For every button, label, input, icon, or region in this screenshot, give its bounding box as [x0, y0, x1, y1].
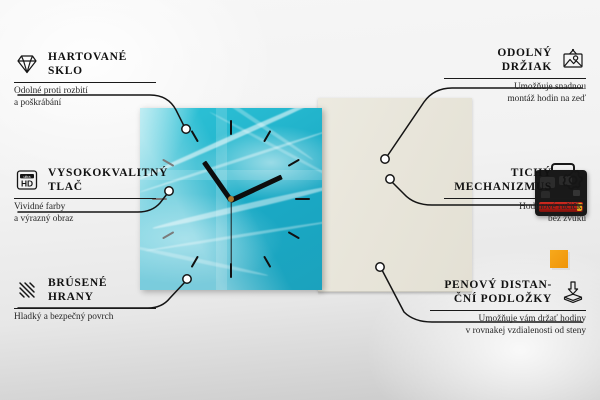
- feature-divider: [444, 78, 586, 79]
- polished-edges-icon: [14, 277, 40, 303]
- gear-icon: [560, 167, 586, 193]
- connector-dot: [183, 275, 191, 283]
- feature-title: PENOVÝ DISTAN-ČNÍ PODLOŽKY: [444, 278, 552, 306]
- feature-heading-row: TICHÝMECHANIZMUS: [444, 166, 586, 194]
- connector-dot: [381, 155, 389, 163]
- feature-heading-row: HARTOVANÉSKLO: [14, 50, 156, 78]
- diamond-icon: [14, 51, 40, 77]
- svg-text:HD: HD: [21, 178, 33, 188]
- feature-description: Umožňuje vám držať hodinyv rovnakej vzdi…: [430, 314, 586, 337]
- feature-divider: [14, 308, 156, 309]
- feature-description: Vividné farbya výrazný obraz: [14, 202, 156, 225]
- feature-divider: [444, 198, 586, 199]
- infographic-canvas: HARTOVANÉSKLO Odolné proti rozbitía pošk…: [0, 0, 600, 400]
- feature-divider: [14, 198, 156, 199]
- foam-spacer-icon: [560, 279, 586, 305]
- picture-frame-icon: [560, 47, 586, 73]
- feature-description: Hodinové ručičkybez zvuku: [444, 202, 586, 225]
- feature-divider: [14, 82, 156, 83]
- feature-heading-row: BRÚSENÉHRANY: [14, 276, 156, 304]
- connector-dot: [386, 175, 394, 183]
- feature-heading-row: ultra HD VYSOKOKVALITNÝTLAČ: [14, 166, 156, 194]
- feature-title: ODOLNÝDRŽIAK: [497, 46, 552, 74]
- feature-title: VYSOKOKVALITNÝTLAČ: [48, 166, 168, 194]
- feature-block-tempered-glass: HARTOVANÉSKLO Odolné proti rozbitía pošk…: [14, 50, 156, 109]
- feature-title: BRÚSENÉHRANY: [48, 276, 107, 304]
- feature-divider: [430, 310, 586, 311]
- feature-block-durable-hanger: ODOLNÝDRŽIAK Umožňuje snadnoumontáž hodi…: [444, 46, 586, 105]
- feature-description: Odolné proti rozbitía poškrábání: [14, 86, 156, 109]
- feature-block-polished-edges: BRÚSENÉHRANY Hladký a bezpečný povrch: [14, 276, 156, 324]
- connector-dot: [376, 263, 384, 271]
- feature-block-hd-print: ultra HD VYSOKOKVALITNÝTLAČ Vividné farb…: [14, 166, 156, 225]
- feature-heading-row: ODOLNÝDRŽIAK: [444, 46, 586, 74]
- ultra-hd-icon: ultra HD: [14, 167, 40, 193]
- connector-dot: [182, 125, 190, 133]
- feature-description: Hladký a bezpečný povrch: [14, 312, 156, 324]
- feature-heading-row: PENOVÝ DISTAN-ČNÍ PODLOŽKY: [430, 278, 586, 306]
- feature-title: TICHÝMECHANIZMUS: [454, 166, 552, 194]
- feature-description: Umožňuje snadnoumontáž hodin na zeď: [444, 82, 586, 105]
- feature-title: HARTOVANÉSKLO: [48, 50, 127, 78]
- feature-block-foam-spacers: PENOVÝ DISTAN-ČNÍ PODLOŽKY Umožňuje vám …: [430, 278, 586, 337]
- feature-block-silent-mechanism: TICHÝMECHANIZMUS Hodinové ručičkybez zvu…: [444, 166, 586, 225]
